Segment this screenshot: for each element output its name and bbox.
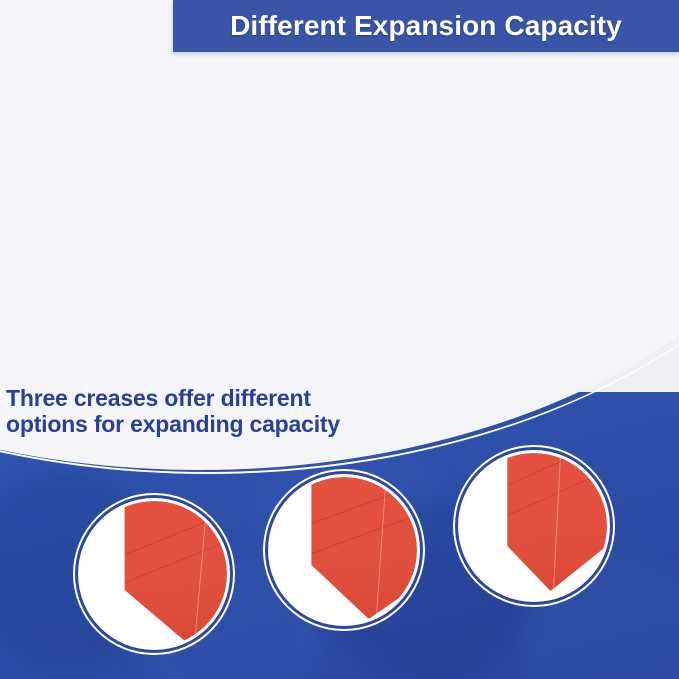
crease-detail-2-inner [271, 477, 417, 623]
detail-crease-3a [489, 453, 607, 494]
page-title: Different Expansion Capacity [230, 10, 622, 42]
crease-detail-1 [78, 498, 230, 650]
subtitle-line-1: Three creases offer different [6, 386, 446, 412]
subtitle-text: Three creases offer different options fo… [6, 386, 446, 438]
detail-fold-edge-3 [553, 453, 562, 593]
detail-crease-2b [295, 508, 417, 560]
folder-corner-shape-2 [289, 477, 417, 619]
detail-crease-3b [489, 462, 607, 524]
subtitle-line-2: options for expanding capacity [6, 412, 446, 438]
crease-detail-1-inner [81, 501, 227, 647]
product-infographic: Caps F1 Shift Z X C Ctrl Alt [0, 0, 679, 679]
folder-corner-shape-1 [105, 501, 227, 641]
crease-detail-2 [268, 474, 420, 626]
detail-crease-1a [113, 503, 227, 560]
crease-detail-3-inner [461, 453, 607, 599]
header-banner: Different Expansion Capacity [173, 0, 679, 52]
detail-crease-1b [113, 531, 227, 588]
crease-detail-3 [458, 450, 610, 602]
folder-corner-shape-3 [483, 453, 607, 591]
